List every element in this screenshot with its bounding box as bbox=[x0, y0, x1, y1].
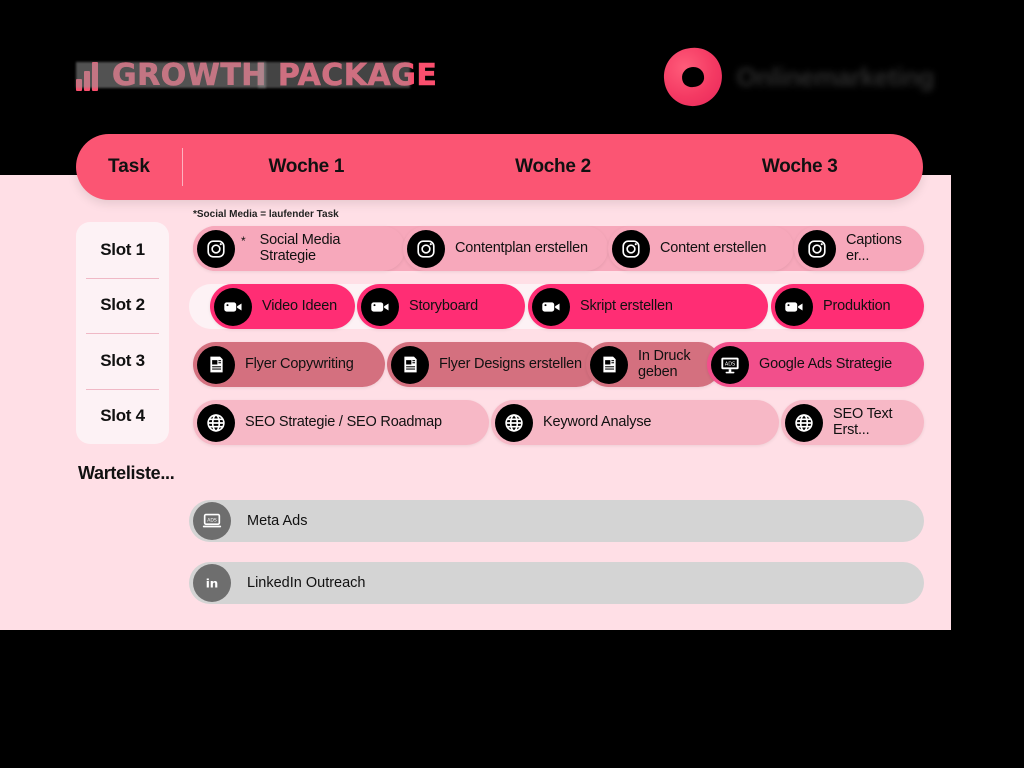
globe-icon bbox=[197, 404, 235, 442]
task-label: Content erstellen bbox=[660, 241, 766, 256]
header-week-1: Woche 1 bbox=[183, 156, 430, 178]
task-pill[interactable]: Skript erstellen bbox=[528, 284, 768, 329]
globe-icon bbox=[785, 404, 823, 442]
slot-2-row: Video IdeenStoryboardSkript erstellenPro… bbox=[189, 284, 924, 329]
task-pill[interactable]: Produktion bbox=[771, 284, 924, 329]
svg-text:in: in bbox=[206, 577, 219, 591]
task-pill[interactable]: Captions er... bbox=[794, 226, 924, 271]
brand-logo: Onlinemarketing bbox=[664, 48, 934, 106]
footnote-social-media: *Social Media = laufender Task bbox=[193, 209, 339, 220]
asterisk-marker: * bbox=[241, 234, 246, 248]
waitlist-title: Warteliste... bbox=[78, 463, 174, 484]
task-pill[interactable]: Keyword Analyse bbox=[491, 400, 779, 445]
instagram-icon bbox=[197, 230, 235, 268]
slot-1-row: *Social Media StrategieContentplan erste… bbox=[189, 226, 924, 271]
waitlist-rows: ADSMeta AdsinLinkedIn Outreach bbox=[189, 500, 924, 624]
waitlist-item-label: LinkedIn Outreach bbox=[247, 575, 366, 591]
brand-name-text: Onlinemarketing bbox=[736, 62, 934, 93]
waitlist-item-label: Meta Ads bbox=[247, 513, 307, 529]
slot-label-1[interactable]: Slot 1 bbox=[76, 222, 169, 278]
linkedin-icon: in bbox=[193, 564, 231, 602]
flyer-document-icon bbox=[391, 346, 429, 384]
task-label: Produktion bbox=[823, 299, 890, 314]
globe-icon bbox=[495, 404, 533, 442]
task-rows: *Social Media StrategieContentplan erste… bbox=[189, 226, 924, 458]
header-week-3: Woche 3 bbox=[676, 156, 923, 178]
task-label: Flyer Designs erstellen bbox=[439, 357, 582, 372]
task-label: Flyer Copywriting bbox=[245, 357, 354, 372]
task-pill[interactable]: Flyer Designs erstellen bbox=[387, 342, 599, 387]
laptop-ads-icon: ADS bbox=[193, 502, 231, 540]
instagram-icon bbox=[407, 230, 445, 268]
task-pill[interactable]: SEO Strategie / SEO Roadmap bbox=[193, 400, 489, 445]
ring-logo-icon bbox=[661, 44, 727, 110]
slot-label-3[interactable]: Slot 3 bbox=[76, 333, 169, 389]
task-label: Keyword Analyse bbox=[543, 415, 651, 430]
task-pill[interactable]: In Druck geben bbox=[586, 342, 721, 387]
task-label: Video Ideen bbox=[262, 299, 337, 314]
task-label: SEO Strategie / SEO Roadmap bbox=[245, 415, 442, 430]
task-pill[interactable]: ADSGoogle Ads Strategie bbox=[707, 342, 924, 387]
task-label: Social Media Strategie bbox=[260, 233, 391, 264]
flyer-document-icon bbox=[590, 346, 628, 384]
task-pill[interactable]: *Social Media Strategie bbox=[193, 226, 405, 271]
bar-chart-icon bbox=[76, 61, 102, 91]
slot-column: Slot 1 Slot 2 Slot 3 Slot 4 bbox=[76, 222, 169, 444]
task-label: SEO Text Erst... bbox=[833, 407, 910, 438]
slot-label-4[interactable]: Slot 4 bbox=[76, 389, 169, 445]
task-pill[interactable]: Content erstellen bbox=[608, 226, 794, 271]
waitlist-item[interactable]: ADSMeta Ads bbox=[189, 500, 924, 542]
waitlist-item[interactable]: inLinkedIn Outreach bbox=[189, 562, 924, 604]
slot-3-row: Flyer CopywritingFlyer Designs erstellen… bbox=[189, 342, 924, 387]
monitor-ads-icon: ADS bbox=[711, 346, 749, 384]
flyer-document-icon bbox=[197, 346, 235, 384]
page-title-text: GROWTH PACKAGE bbox=[112, 58, 437, 93]
header-task-label: Task bbox=[76, 156, 182, 178]
task-label: Storyboard bbox=[409, 299, 478, 314]
page-title: GROWTH PACKAGE bbox=[76, 58, 437, 93]
task-label: Captions er... bbox=[846, 233, 910, 264]
task-pill[interactable]: Contentplan erstellen bbox=[403, 226, 608, 271]
task-label: Skript erstellen bbox=[580, 299, 673, 314]
svg-text:ADS: ADS bbox=[725, 361, 735, 367]
task-label: Contentplan erstellen bbox=[455, 241, 588, 256]
diagram-root: GROWTH PACKAGE Onlinemarketing Task Woch… bbox=[0, 0, 1024, 768]
instagram-icon bbox=[798, 230, 836, 268]
header-week-2: Woche 2 bbox=[430, 156, 677, 178]
task-label: Google Ads Strategie bbox=[759, 357, 892, 372]
table-header-bar: Task Woche 1 Woche 2 Woche 3 bbox=[76, 134, 923, 200]
video-camera-icon bbox=[775, 288, 813, 326]
svg-text:ADS: ADS bbox=[207, 518, 217, 524]
video-camera-icon bbox=[214, 288, 252, 326]
task-pill[interactable]: Storyboard bbox=[357, 284, 525, 329]
slot-4-row: SEO Strategie / SEO RoadmapKeyword Analy… bbox=[189, 400, 924, 445]
slot-label-2[interactable]: Slot 2 bbox=[76, 278, 169, 334]
task-label: In Druck geben bbox=[638, 349, 690, 380]
task-pill[interactable]: Video Ideen bbox=[210, 284, 355, 329]
video-camera-icon bbox=[361, 288, 399, 326]
video-camera-icon bbox=[532, 288, 570, 326]
instagram-icon bbox=[612, 230, 650, 268]
task-pill[interactable]: SEO Text Erst... bbox=[781, 400, 924, 445]
task-pill[interactable]: Flyer Copywriting bbox=[193, 342, 385, 387]
